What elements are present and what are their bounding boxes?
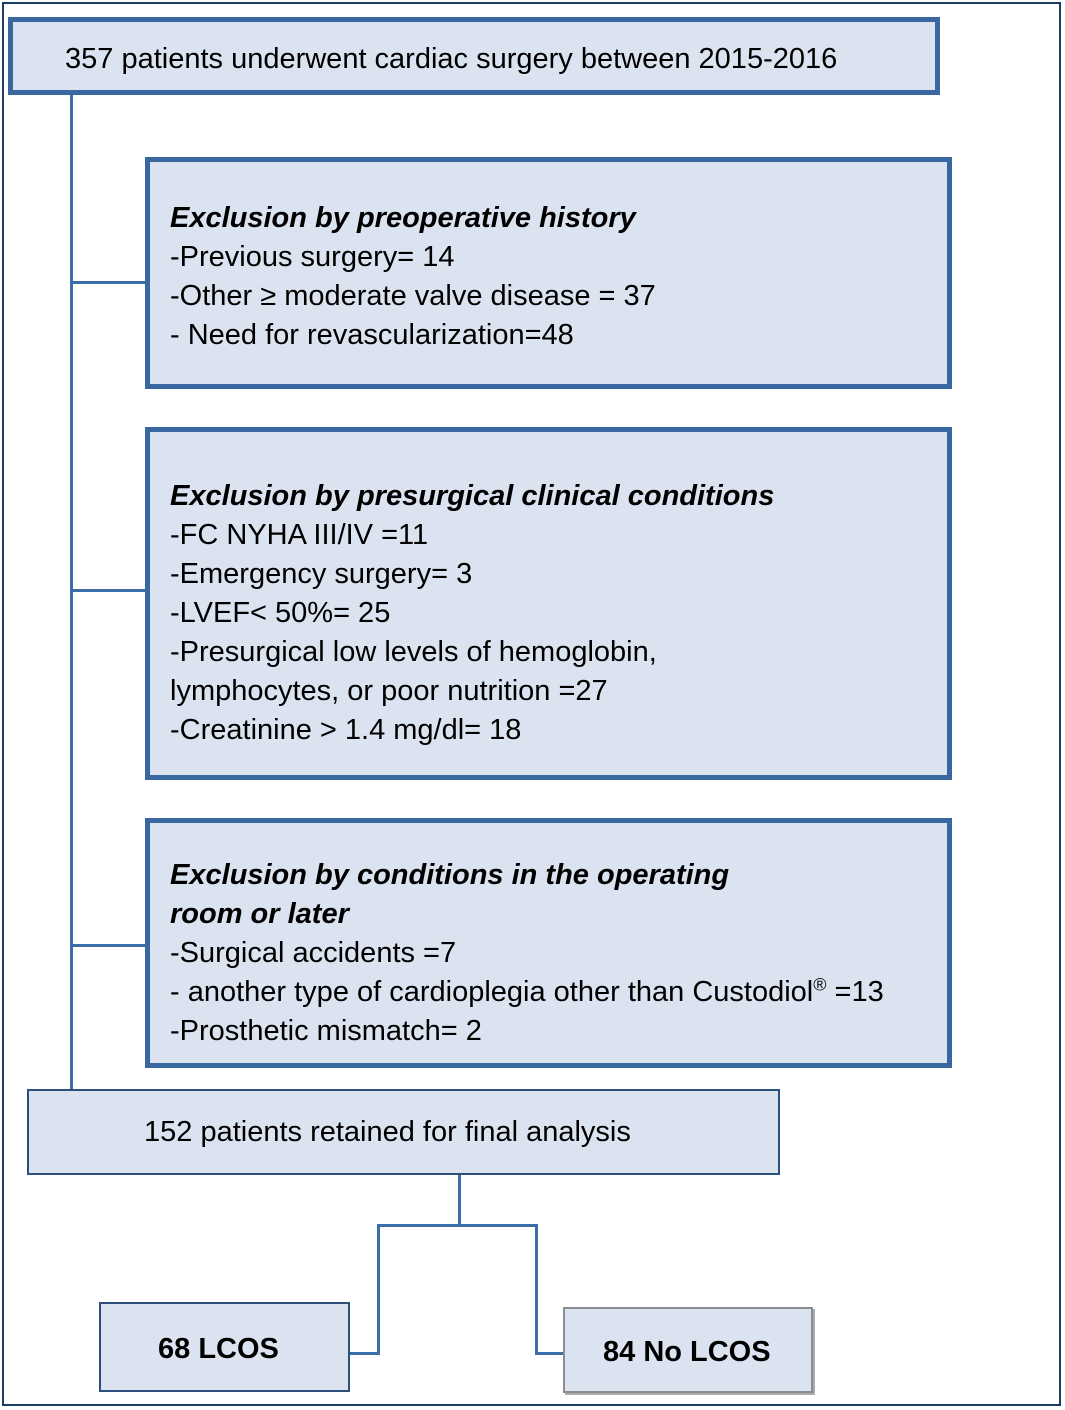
custodiol-text-post: =13 xyxy=(827,976,884,1008)
exclusion-preoperative-item-1: -Other ≥ moderate valve disease = 37 xyxy=(170,277,656,316)
node-lcos-label: 68 LCOS xyxy=(158,1330,279,1369)
exclusion-presurgical-item-0: -FC NYHA III/IV =11 xyxy=(170,516,428,555)
connector-branch-exclusion-2 xyxy=(70,589,145,592)
exclusion-presurgical-heading: Exclusion by presurgical clinical condit… xyxy=(170,477,774,516)
exclusion-presurgical-item-3: -Presurgical low levels of hemoglobin, xyxy=(170,633,657,672)
connector-split-right-vertical xyxy=(535,1224,538,1355)
node-no-lcos-label: 84 No LCOS xyxy=(603,1333,771,1372)
node-no-lcos: 84 No LCOS xyxy=(563,1307,813,1393)
exclusion-preoperative-heading: Exclusion by preoperative history xyxy=(170,199,636,238)
exclusion-presurgical-item-1: -Emergency surgery= 3 xyxy=(170,555,472,594)
node-exclusion-operating-room: Exclusion by conditions in the operating… xyxy=(145,818,952,1068)
connector-retained-down xyxy=(458,1175,461,1226)
exclusion-presurgical-item-4: lymphocytes, or poor nutrition =27 xyxy=(170,672,608,711)
node-lcos: 68 LCOS xyxy=(99,1302,350,1392)
node-exclusion-preoperative: Exclusion by preoperative history -Previ… xyxy=(145,157,952,389)
flowchart-canvas: 357 patients underwent cardiac surgery b… xyxy=(0,0,1065,1410)
node-enrolled-label: 357 patients underwent cardiac surgery b… xyxy=(65,40,837,79)
connector-split-left-vertical xyxy=(377,1224,380,1355)
exclusion-operating-room-item-0: -Surgical accidents =7 xyxy=(170,934,456,973)
connector-branch-exclusion-3 xyxy=(70,944,145,947)
exclusion-operating-room-item-1: -Prosthetic mismatch= 2 xyxy=(170,1012,482,1051)
connector-split-horizontal xyxy=(377,1224,538,1227)
exclusion-operating-room-heading-line1: Exclusion by conditions in the operating xyxy=(170,856,729,895)
exclusion-preoperative-item-0: -Previous surgery= 14 xyxy=(170,238,455,277)
exclusion-operating-room-heading-line2: room or later xyxy=(170,895,349,934)
exclusion-presurgical-item-2: -LVEF< 50%= 25 xyxy=(170,594,390,633)
exclusion-operating-room-item-custodiol: - another type of cardioplegia other tha… xyxy=(170,973,884,1012)
node-retained: 152 patients retained for final analysis xyxy=(27,1089,780,1175)
connector-branch-exclusion-1 xyxy=(70,281,145,284)
registered-mark-icon: ® xyxy=(813,974,826,994)
connector-into-no-lcos xyxy=(535,1352,565,1355)
custodiol-text-pre: - another type of cardioplegia other tha… xyxy=(170,976,813,1008)
exclusion-presurgical-item-5: -Creatinine > 1.4 mg/dl= 18 xyxy=(170,711,521,750)
node-enrolled: 357 patients underwent cardiac surgery b… xyxy=(8,17,940,95)
connector-into-lcos xyxy=(348,1352,380,1355)
exclusion-preoperative-item-2: - Need for revascularization=48 xyxy=(170,316,574,355)
node-exclusion-presurgical: Exclusion by presurgical clinical condit… xyxy=(145,427,952,780)
node-retained-label: 152 patients retained for final analysis xyxy=(144,1113,631,1152)
